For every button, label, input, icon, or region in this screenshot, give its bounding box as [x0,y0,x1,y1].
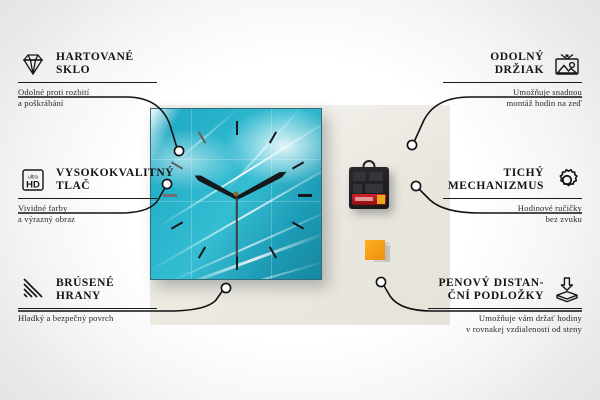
feature-title-line1: TICHÝ [448,167,544,181]
feature-divider [443,198,582,199]
feature-subtitle-line1: Hladký a bezpečný povrch [18,313,164,324]
foam-distance-pad [365,240,385,260]
feature-foam-distance-pads: PENOVÝ DISTAN- ČNÍ PODLOŽKY Umožňuje vám… [428,276,582,335]
clock-tick-6 [236,256,238,270]
clock-second-hand [236,197,238,257]
feature-subtitle-line2: a poškrábání [18,98,164,109]
feature-subtitle-line1: Umožňuje snadnou [436,87,582,98]
press-down-pad-icon [552,276,582,304]
badge-hd-text: HD [26,180,40,191]
feature-subtitle-line2: bez zvuku [436,214,582,225]
movement-battery [352,194,386,205]
feature-title-line2: ČNÍ PODLOŽKY [438,290,544,304]
feature-subtitle-line2: montáž hodin na zeď [436,98,582,109]
feature-divider [428,308,582,309]
feature-title-line2: HRANY [56,290,114,304]
feature-subtitle-line2: a výrazný obraz [18,214,164,225]
feature-title-line2: MECHANIZMUS [448,180,544,194]
feature-divider [443,82,582,83]
feature-durable-hanger: ODOLNÝ DRŽIAK Umožňuje snadnou montáž ho… [436,50,582,109]
feature-title-line1: BRÚSENÉ [56,277,114,291]
clock-tick-3 [298,194,312,197]
feature-subtitle-line1: Vividné farby [18,203,164,214]
feature-divider [18,308,157,309]
feature-title-line2: DRŽIAK [490,64,544,78]
feature-title-line1: PENOVÝ DISTAN- [438,277,544,291]
hatched-edge-icon [18,276,48,304]
product-infographic-stage: HARTOVANÉ SKLO Odolné proti rozbití a po… [0,0,600,400]
feature-title-line2: SKLO [56,64,134,78]
clock-movement [349,167,389,209]
feature-title-line1: HARTOVANÉ [56,51,134,65]
picture-hanger-icon [552,50,582,78]
feature-subtitle-line1: Hodinové ručičky [436,203,582,214]
clock-tick-12 [236,121,238,135]
feature-subtitle-line1: Odolné proti rozbití [18,87,164,98]
feature-divider [18,82,157,83]
feature-subtitle-line1: Umožňuje vám držať hodiny [428,313,582,324]
feature-ground-edges: BRÚSENÉ HRANY Hladký a bezpečný povrch [18,276,164,324]
feature-silent-mechanism: TICHÝ MECHANIZMUS Hodinové ručičky bez z… [436,166,582,225]
feature-title-line1: ODOLNÝ [490,51,544,65]
feature-subtitle-line2: v rovnakej vzdialenosti od steny [428,324,582,335]
gear-icon [552,166,582,194]
feature-divider [18,198,157,199]
clock-center-pin [234,192,239,197]
clock-face [150,108,322,280]
feature-title-line1: VYSOKOKVALITNÝ [56,167,174,181]
feature-tempered-glass: HARTOVANÉ SKLO Odolné proti rozbití a po… [18,50,164,109]
movement-hanger-hook [363,160,376,169]
clock-tick-9 [163,194,177,197]
diamond-icon [18,50,48,78]
ultra-hd-badge-icon: ultra HD [18,166,48,194]
feature-title-line2: TLAČ [56,180,174,194]
feature-high-quality-print: ultra HD VYSOKOKVALITNÝ TLAČ Vividné far… [18,166,164,225]
